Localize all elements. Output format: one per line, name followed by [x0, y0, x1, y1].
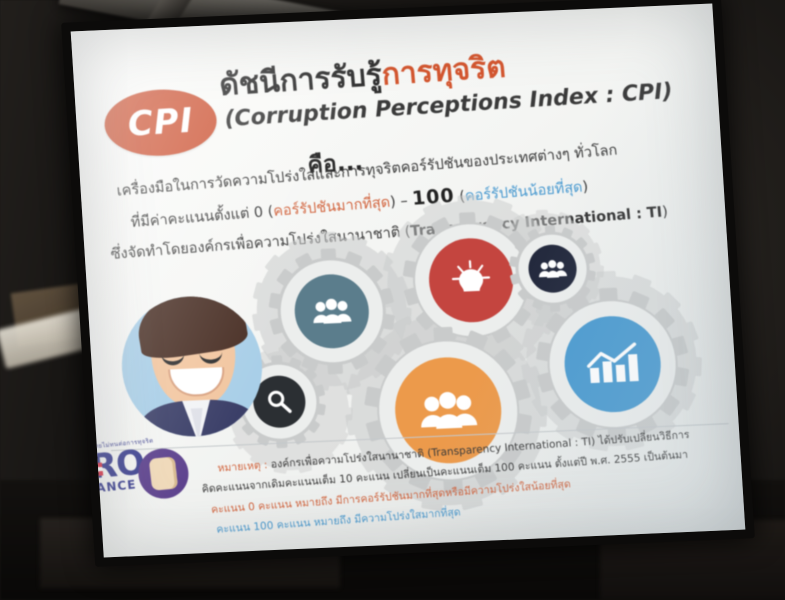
title-thai-highlight: การทุจริต: [380, 50, 507, 93]
body-line-2-close: ): [582, 179, 589, 195]
body-line-2-red: คอร์รัปชันมากที่สุด: [273, 195, 391, 220]
smiling-man-illustration: [118, 294, 267, 440]
title-thai-plain: ดัชนีการรับรู้: [218, 58, 383, 103]
cpi-logo-text: CPI: [126, 101, 195, 145]
zero-logo-word: ZERO: [71, 442, 197, 488]
body-line-2-pre: ที่มีค่าคะแนนตั้งแต่ 0 (: [130, 204, 274, 231]
screen-frame: CPI ดัชนีการรับรู้การทุจริต (Corruption …: [61, 0, 755, 567]
presentation-slide: CPI ดัชนีการรับรู้การทุจริต (Corruption …: [71, 4, 746, 558]
cpi-logo-badge: CPI: [102, 86, 219, 159]
projection-screen: CPI ดัชนีการรับรู้การทุจริต (Corruption …: [61, 0, 755, 567]
fist-icon: [149, 456, 179, 490]
footnote-label: หมายเหตุ :: [217, 459, 268, 475]
body-line-2-mid: ) –: [389, 193, 413, 211]
